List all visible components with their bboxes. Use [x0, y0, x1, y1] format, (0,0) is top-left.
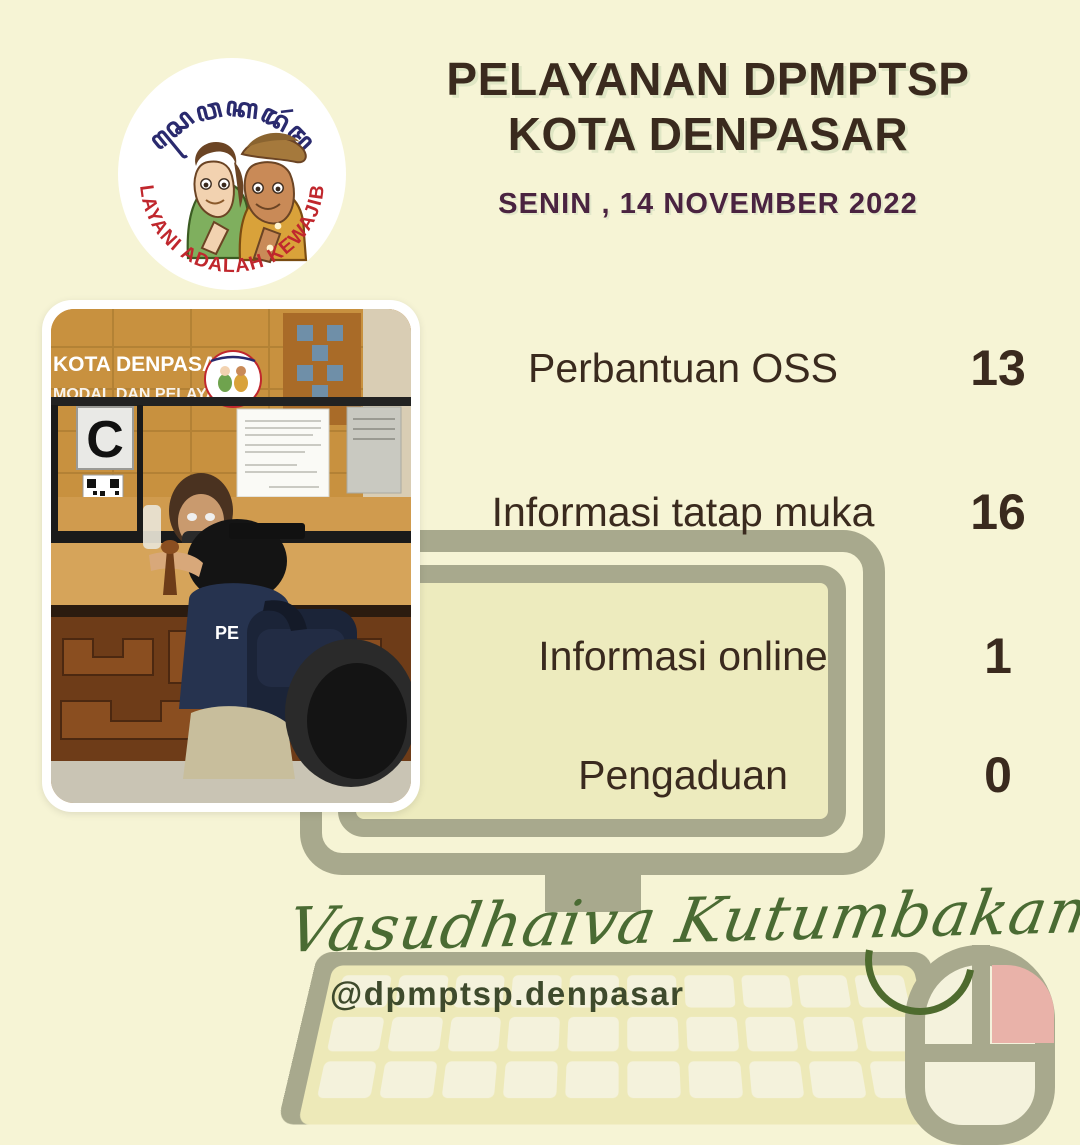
key [744, 1017, 799, 1051]
motto-script: Vasudhaiva Kutumbakam [282, 878, 917, 966]
mouse-right-button [992, 965, 1054, 1043]
mouse-divider-vertical [972, 945, 990, 1057]
page-title-line2: KOTA DENPASAR [378, 107, 1038, 162]
logo-circle-badge: ꦱꦺꦮꦏꦢꦂꦩ [118, 58, 346, 290]
logo-artwork: ꦱꦺꦮꦏꦢꦂꦩ [118, 58, 346, 290]
stat-value: 13 [944, 339, 1052, 397]
key [862, 1017, 920, 1051]
page-title-line1: PELAYANAN DPMPTSP [378, 52, 1038, 107]
report-date: SENIN , 14 NOVEMBER 2022 [378, 188, 1038, 221]
key [507, 1017, 560, 1051]
key [686, 1017, 739, 1051]
stat-row-perbantuan-oss: Perbantuan OSS 13 [432, 322, 1052, 414]
stat-label: Informasi tatap muka [432, 488, 944, 536]
stat-row-informasi-online: Informasi online 1 [432, 610, 1052, 702]
stat-row-informasi-tatap-muka: Informasi tatap muka 16 [432, 428, 1052, 596]
stat-value: 1 [944, 627, 1052, 685]
key [803, 1017, 859, 1051]
stat-label: Perbantuan OSS [432, 344, 944, 392]
stat-label: Pengaduan [432, 751, 944, 799]
service-counter-photo-frame: KOTA DENPASAR MODAL DAN PELAYANAN C [42, 300, 420, 812]
key [447, 1017, 502, 1051]
stat-row-pengaduan: Pengaduan 0 [432, 716, 1052, 834]
stat-value: 0 [944, 746, 1052, 804]
svg-text:C: C [86, 411, 124, 469]
sewakadarma-logo: ꦱꦺꦮꦏꦢꦂꦩ [118, 58, 346, 290]
stat-value: 16 [944, 483, 1052, 541]
mouse-divider-horizontal [905, 1044, 1055, 1062]
photo-artwork: KOTA DENPASAR MODAL DAN PELAYANAN C [51, 309, 411, 803]
header-block: PELAYANAN DPMPTSP KOTA DENPASAR SENIN , … [378, 52, 1038, 221]
stat-label: Informasi online [432, 632, 944, 680]
mouse-illustration [905, 945, 1055, 1145]
key [387, 1017, 443, 1051]
page-title: PELAYANAN DPMPTSP KOTA DENPASAR [378, 52, 1038, 162]
social-handle: @dpmptsp.denpasar [330, 975, 890, 1013]
svg-text:PE: PE [215, 623, 239, 643]
key [327, 1017, 385, 1051]
service-counter-photo: KOTA DENPASAR MODAL DAN PELAYANAN C [51, 309, 411, 803]
stats-list: Perbantuan OSS 13 Informasi tatap muka 1… [432, 322, 1052, 848]
key [627, 1017, 679, 1051]
key [567, 1017, 619, 1051]
